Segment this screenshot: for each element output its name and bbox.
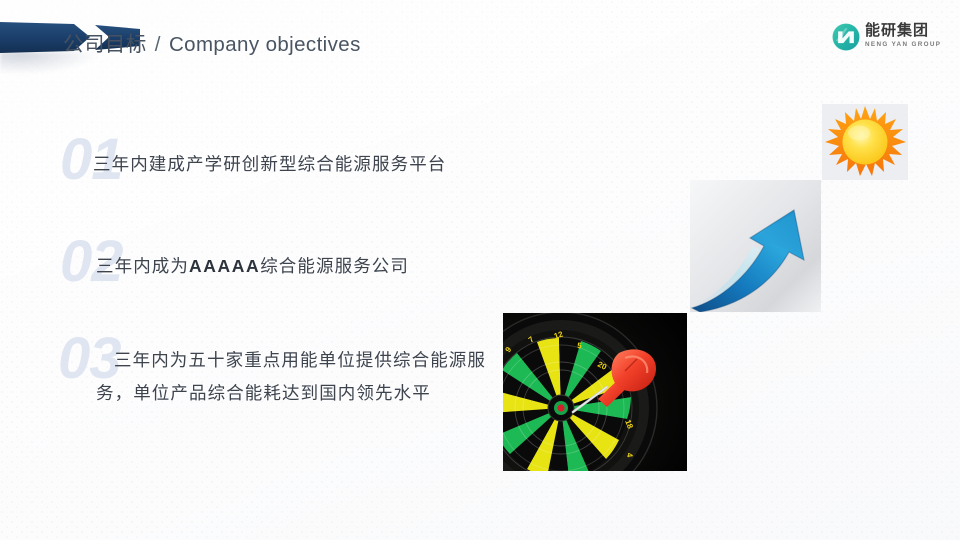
page-title-separator: /: [153, 33, 163, 56]
logo-name-en: NENG YAN GROUP: [865, 41, 941, 49]
objective-text: 三年内为五十家重点用能单位提供综合能源服务，单位产品综合能耗达到国内领先水平: [96, 344, 516, 410]
objective-text: 三年内成为AAAAA综合能源服务公司: [96, 250, 576, 283]
sun-photo: [822, 104, 908, 180]
nengyan-circle-logo-icon: [832, 23, 860, 51]
dartboard-icon: 9 7 12 5 20 1 18 4: [503, 313, 687, 471]
objective-text-prefix: 三年内为五十家重点用能单位提供综合能源服务，单位产品综合能耗达到国内领先水平: [96, 350, 486, 403]
growth-arrow-icon: [690, 180, 821, 312]
objective-text-suffix: 综合能源服务公司: [260, 256, 409, 276]
sun-icon: [822, 104, 908, 180]
slide-canvas: 公司目标 / Company objectives 能研集团: [0, 0, 960, 540]
objective-text-bold: AAAAA: [189, 256, 260, 276]
objective-text-prefix: 三年内成为: [96, 256, 189, 276]
slide-header: 公司目标 / Company objectives 能研集团: [0, 0, 960, 74]
logo-name-cn: 能研集团: [865, 22, 929, 40]
page-title-cn: 公司目标: [63, 33, 147, 56]
dartboard-photo: 9 7 12 5 20 1 18 4: [503, 313, 687, 471]
objective-text-prefix: 三年内建成产学研创新型综合能源服务平台: [93, 154, 446, 174]
page-title: 公司目标 / Company objectives: [63, 27, 361, 57]
objective-text: 三年内建成产学研创新型综合能源服务平台: [93, 148, 573, 181]
objective-item-03: 03 三年内为五十家重点用能单位提供综合能源服务，单位产品综合能耗达到国内领先水…: [58, 330, 528, 450]
objective-item-02: 02 三年内成为AAAAA综合能源服务公司: [60, 233, 580, 305]
growth-arrow-photo: [690, 180, 821, 312]
company-logo: 能研集团 NENG YAN GROUP: [832, 22, 944, 54]
objective-item-01: 01 三年内建成产学研创新型综合能源服务平台: [60, 131, 580, 203]
page-title-en: Company objectives: [169, 33, 361, 56]
